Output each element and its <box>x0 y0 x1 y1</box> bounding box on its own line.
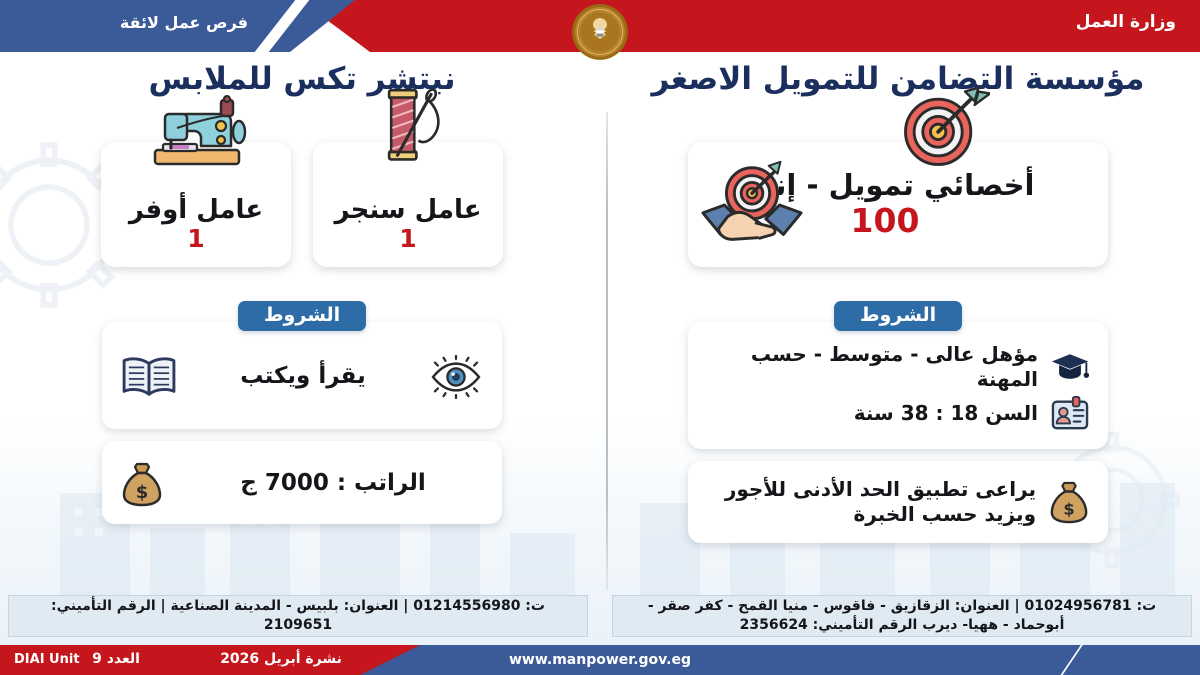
target-dart-icon <box>894 80 990 180</box>
svg-text:$: $ <box>136 482 149 503</box>
handshake-icon <box>698 157 806 261</box>
job-count: 1 <box>117 226 275 252</box>
job-card-overlock-worker[interactable]: عامل أوفر 1 <box>101 142 291 267</box>
left-column-title: نيتشر تكس للملابس <box>8 62 596 98</box>
condition-text: يقرأ ويكتب <box>196 362 410 391</box>
job-title: عامل أوفر <box>117 196 275 225</box>
unit-label: DIAI Unit <box>14 652 80 667</box>
eye-icon <box>428 355 484 399</box>
money-bag-icon: $ <box>120 461 164 507</box>
condition-row-qualification: مؤهل عالى - متوسط - حسب المهنة <box>706 342 1090 392</box>
condition-row-age: السن 18 : 38 سنة <box>706 396 1090 432</box>
condition-row-literacy: يقرأ ويكتب <box>120 342 484 412</box>
condition-row-salary: الراتب : 7000 ج $ <box>120 461 484 507</box>
job-card-finance-specialist[interactable]: أخصائي تمويل - إناث 100 <box>688 142 1108 267</box>
condition-text: مؤهل عالى - متوسط - حسب المهنة <box>706 342 1038 392</box>
conditions-badge: الشروط <box>238 301 366 331</box>
salary-box: $ يراعى تطبيق الحد الأدنى للأجور ويزيد ح… <box>688 461 1108 543</box>
left-column: نيتشر تكس للملابس <box>8 62 596 582</box>
ministry-seal-icon <box>571 3 629 61</box>
svg-text:$: $ <box>1063 499 1074 518</box>
bottom-bar: نشرة أبريل 2026 العدد 9 www.manpower.gov… <box>0 645 1200 675</box>
condition-text: السن 18 : 38 سنة <box>706 401 1038 426</box>
job-card-singer-worker[interactable]: عامل سنجر 1 <box>313 142 503 267</box>
conditions-box: مؤهل عالى - متوسط - حسب المهنة <box>688 322 1108 449</box>
contact-strip-left: ت: 01214556980 | العنوان: بلبيس - المدين… <box>8 595 588 637</box>
condition-row-salary: $ يراعى تطبيق الحد الأدنى للأجور ويزيد ح… <box>706 477 1090 527</box>
sewing-machine-icon <box>141 94 251 178</box>
graduation-cap-icon <box>1050 350 1090 384</box>
job-count: 1 <box>329 226 487 252</box>
left-jobs-row: عامل سنجر 1 <box>8 142 596 267</box>
right-conditions-section: الشروط مؤهل عالى - متوسط - حسب المهنة <box>604 301 1192 543</box>
right-column: مؤسسة التضامن للتمويل الاصغر <box>604 62 1192 582</box>
salary-text: يراعى تطبيق الحد الأدنى للأجور ويزيد حسب… <box>706 477 1036 527</box>
conditions-box: يقرأ ويكتب <box>102 322 502 429</box>
poster-canvas: وزارة العمل فرص عمل لائقة مؤسسة التضامن … <box>0 0 1200 675</box>
salary-box: الراتب : 7000 ج $ <box>102 441 502 524</box>
open-book-icon <box>120 354 178 400</box>
website-link[interactable]: www.manpower.gov.eg <box>0 652 1200 668</box>
left-conditions-section: الشروط <box>8 301 596 524</box>
right-jobs-row: أخصائي تمويل - إناث 100 <box>604 142 1192 267</box>
contact-strip-right: ت: 01024956781 | العنوان: الزقازيق - فاق… <box>612 595 1192 637</box>
conditions-badge: الشروط <box>834 301 962 331</box>
job-title: عامل سنجر <box>329 196 487 225</box>
salary-text: الراتب : 7000 ج <box>182 469 484 498</box>
id-card-icon <box>1050 396 1090 432</box>
ministry-label: وزارة العمل <box>1076 12 1176 32</box>
slogan-label: فرص عمل لائقة <box>120 13 248 32</box>
money-bag-icon: $ <box>1048 480 1090 524</box>
thread-spool-needle-icon <box>366 86 450 176</box>
